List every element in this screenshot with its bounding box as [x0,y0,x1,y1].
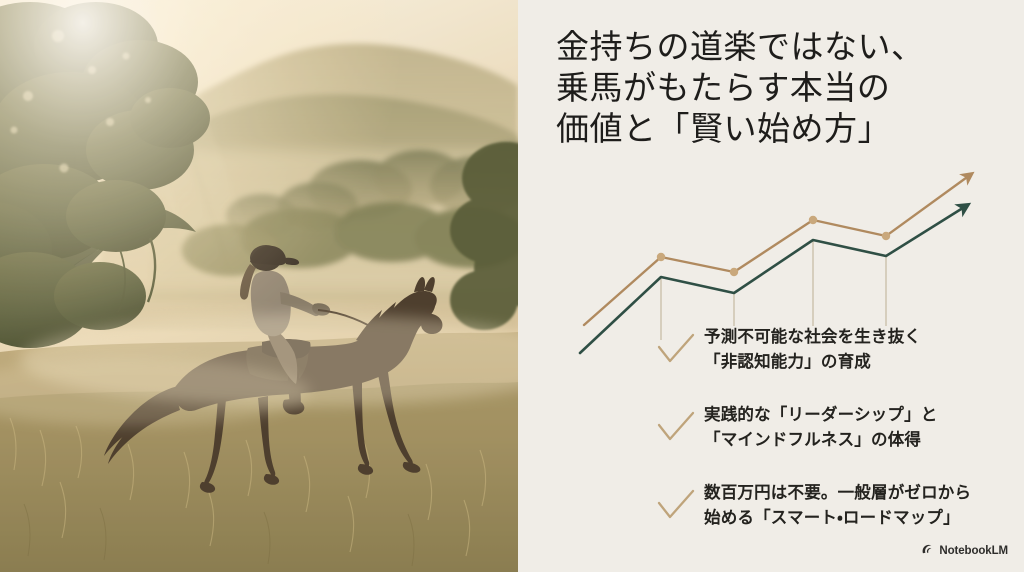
hero-photo-illustration [0,0,518,572]
check-icon [656,489,704,523]
list-item-text: 実践的な「リーダーシップ」と 「マインドフルネス」の体得 [704,403,937,453]
list-item[interactable]: 実践的な「リーダーシップ」と 「マインドフルネス」の体得 [656,400,1016,456]
notebooklm-spiral-icon [921,542,934,560]
list-item[interactable]: 予測不可能な社会を生き抜く 「非認知能力」の育成 [656,322,1016,378]
check-icon [656,333,704,367]
chart-marker-3 [809,216,817,224]
chart-marker-1 [657,253,665,261]
benefit-list: 予測不可能な社会を生き抜く 「非認知能力」の育成 実践的な「リーダーシップ」と … [656,322,1016,534]
content-panel: 金持ちの道楽ではない、 乗馬がもたらす本当の 価値と「賢い始め方」 [518,0,1024,572]
list-item[interactable]: 数百万円は不要。一般層がゼロから 始める「スマート・ロードマップ」 [656,478,1016,534]
list-item-text: 予測不可能な社会を生き抜く 「非認知能力」の育成 [704,325,921,375]
list-item-line-1: 実践的な「リーダーシップ」と [704,406,937,424]
notebooklm-wordmark: NotebookLM [939,545,1008,557]
check-icon [656,411,704,445]
notebooklm-branding: NotebookLM [921,542,1008,560]
list-item-line-1: 予測不可能な社会を生き抜く [704,328,921,346]
list-item-line-1: 数百万円は不要。一般層がゼロから [704,484,971,502]
list-item-text: 数百万円は不要。一般層がゼロから 始める「スマート・ロードマップ」 [704,481,971,531]
chart-line-upper [584,175,970,325]
hero-photo [0,0,518,572]
chart-marker-4 [882,232,890,240]
chart-marker-2 [730,268,738,276]
list-item-line-2: 始める「スマート・ロードマップ」 [704,509,960,527]
slide-root: 金持ちの道楽ではない、 乗馬がもたらす本当の 価値と「賢い始め方」 [0,0,1024,572]
list-item-line-2: 「マインドフルネス」の体得 [704,431,921,449]
list-item-line-2: 「非認知能力」の育成 [704,353,871,371]
